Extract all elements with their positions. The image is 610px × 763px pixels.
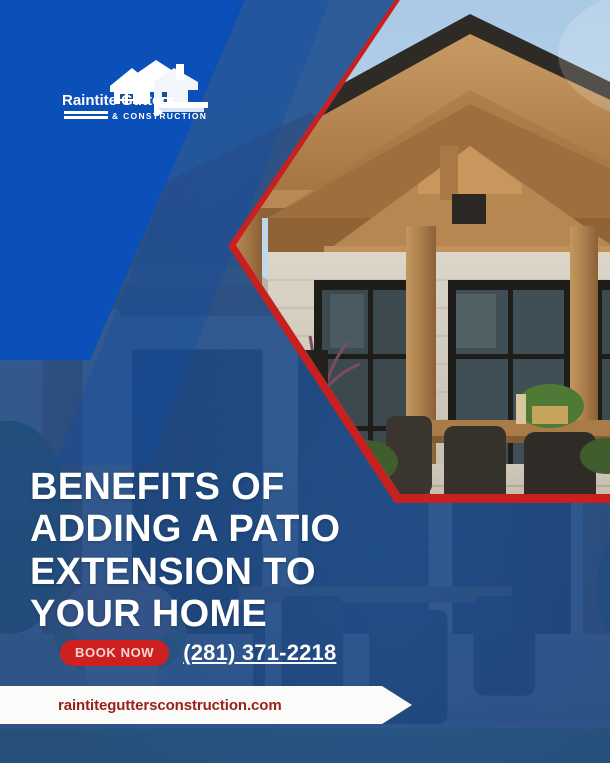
headline-line-3: EXTENSION TO xyxy=(30,551,430,593)
headline-line-1: BENEFITS OF xyxy=(30,466,430,508)
headline-line-4: YOUR HOME xyxy=(30,593,430,635)
footer-banner: raintiteguttersconstruction.com xyxy=(0,686,412,724)
brand-logo[interactable]: Raintite Gutters & CONSTRUCTION xyxy=(58,56,218,126)
page-title: BENEFITS OF ADDING A PATIO EXTENSION TO … xyxy=(30,466,430,635)
phone-number-link[interactable]: (281) 371-2218 xyxy=(183,640,336,666)
cta-row: BOOK NOW (281) 371-2218 xyxy=(60,640,336,666)
book-now-button[interactable]: BOOK NOW xyxy=(60,640,169,666)
flyer-canvas: Raintite Gutters & CONSTRUCTION BENEFITS… xyxy=(0,0,610,763)
logo-brand-name: Raintite Gutters xyxy=(62,92,175,109)
logo-tagline: & CONSTRUCTION xyxy=(112,111,207,121)
website-url[interactable]: raintiteguttersconstruction.com xyxy=(58,697,282,714)
house-roof-gutter-icon: Raintite Gutters & CONSTRUCTION xyxy=(58,56,218,126)
headline-line-2: ADDING A PATIO xyxy=(30,508,430,550)
